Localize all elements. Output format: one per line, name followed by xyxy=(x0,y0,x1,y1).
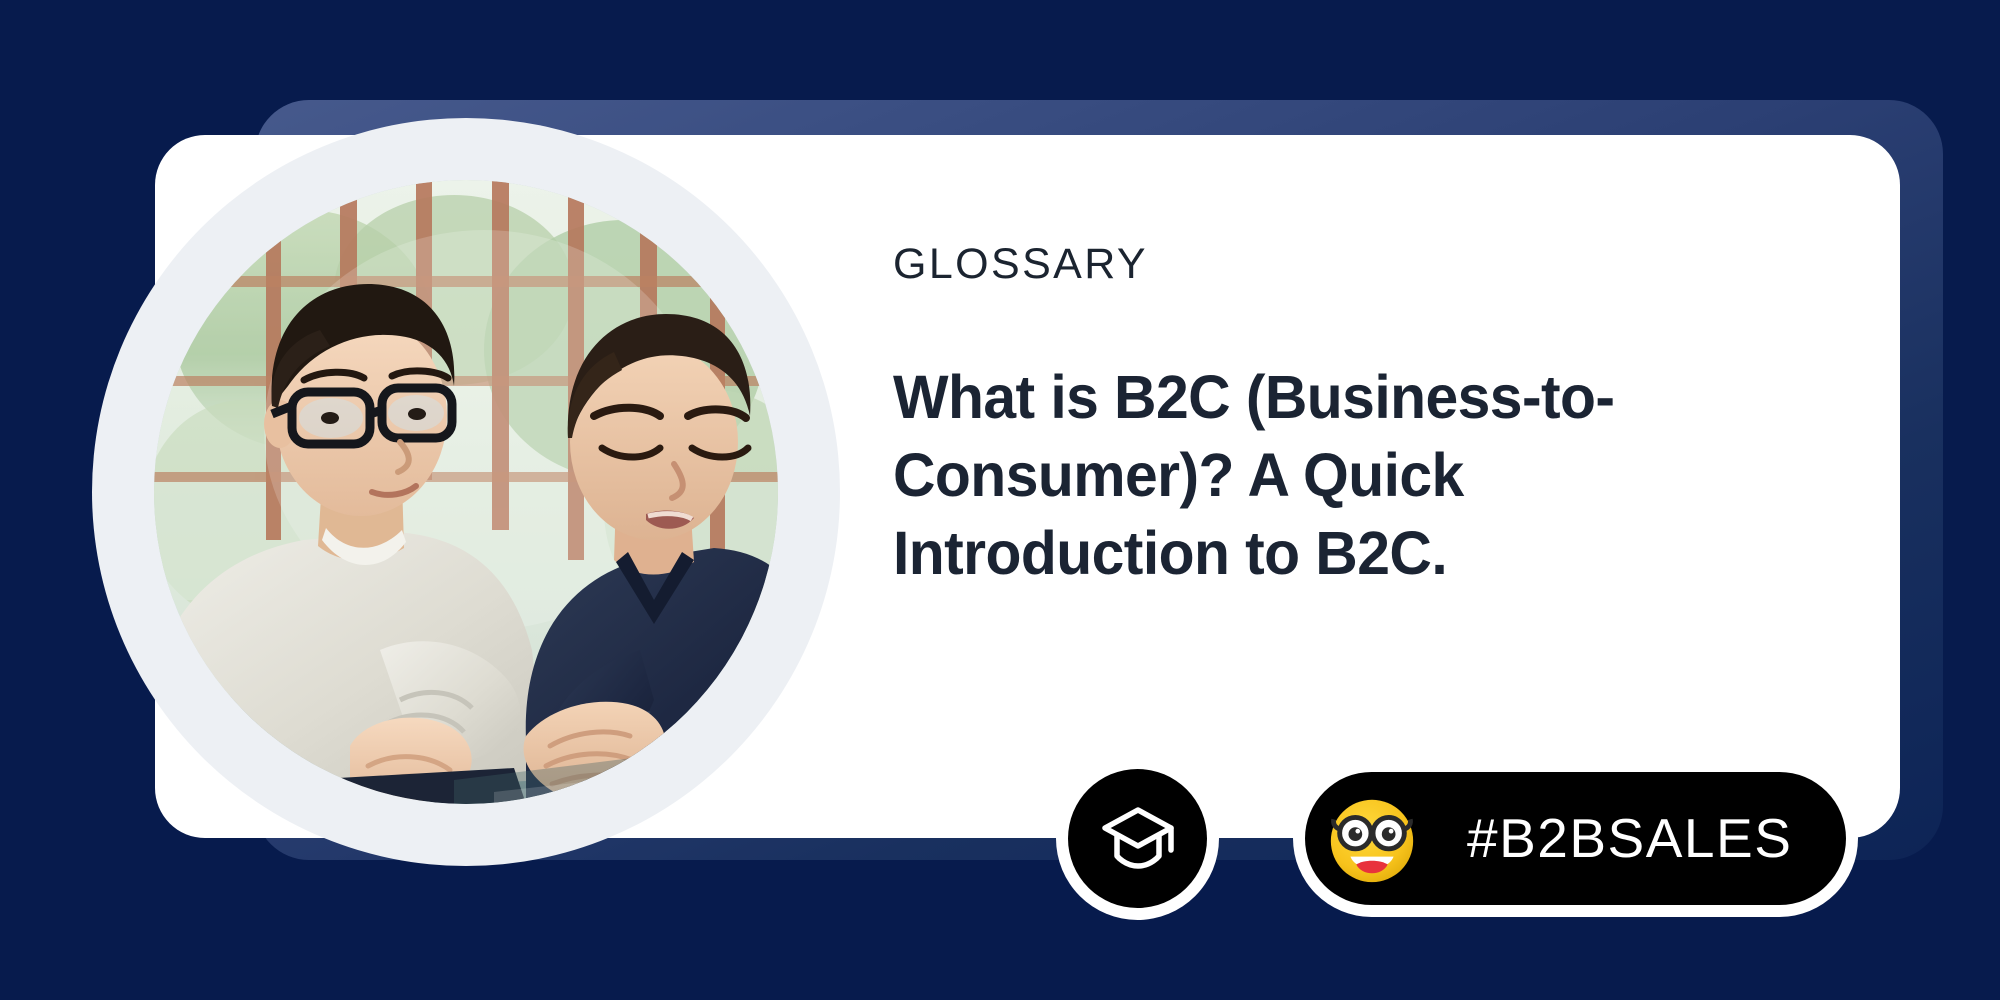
poster-canvas: GLOSSARY What is B2C (Business-to-Consum… xyxy=(0,0,2000,1000)
eyebrow-label: GLOSSARY xyxy=(893,243,1853,286)
graduation-badge-inner xyxy=(1068,769,1207,908)
graduation-badge[interactable] xyxy=(1056,757,1219,920)
photo-circle-frame xyxy=(92,118,840,866)
hashtag-label: #B2BSALES xyxy=(1467,811,1792,866)
hashtag-badge[interactable]: #B2BSALES xyxy=(1293,760,1858,917)
photo-image xyxy=(154,180,778,804)
nerd-face-emoji xyxy=(1323,790,1421,888)
text-column: GLOSSARY What is B2C (Business-to-Consum… xyxy=(893,243,1853,592)
page-title: What is B2C (Business-to-Consumer)? A Qu… xyxy=(893,358,1810,592)
graduation-cap-icon xyxy=(1095,796,1181,882)
hashtag-badge-inner: #B2BSALES xyxy=(1305,772,1846,905)
